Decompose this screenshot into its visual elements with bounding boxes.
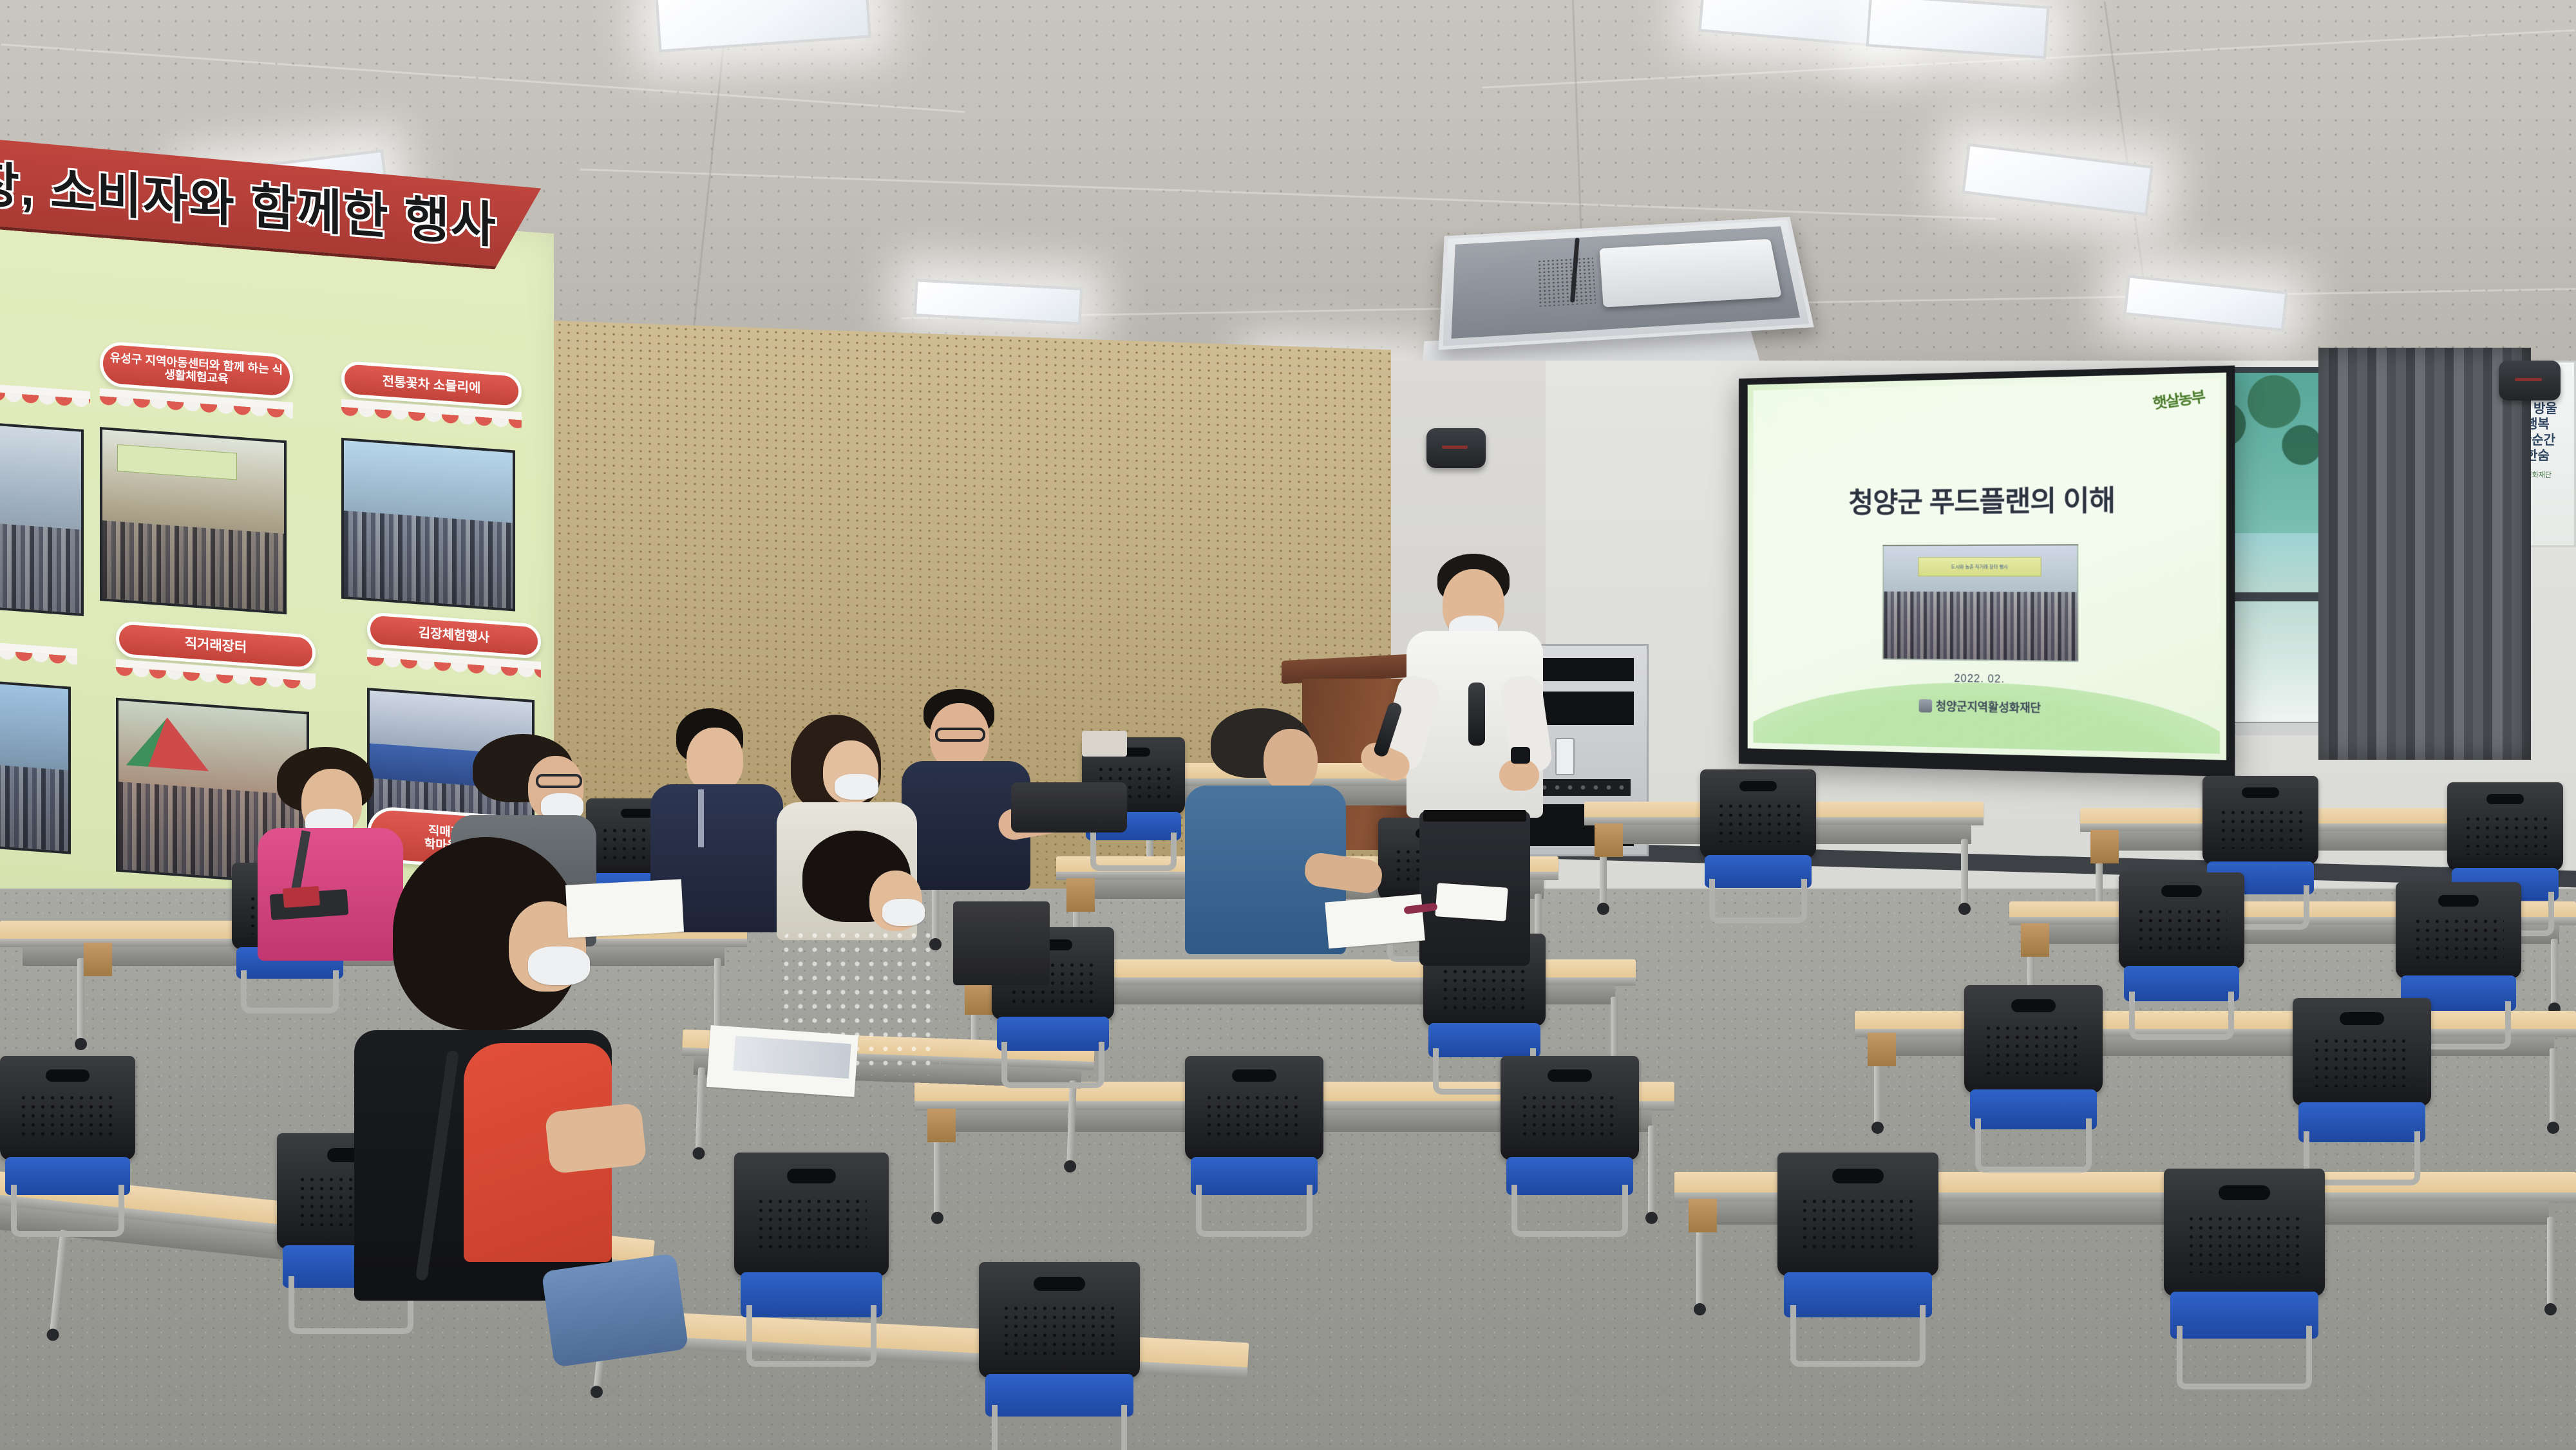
curtain [2318,348,2531,760]
chair[interactable] [1964,985,2103,1165]
chair[interactable] [734,1153,889,1359]
chair[interactable] [1777,1153,1938,1359]
cup[interactable] [1082,731,1127,757]
chair[interactable] [2293,998,2431,1178]
projection-screen: 햇살농부 청양군 푸드플랜의 이해 도시와 농촌 직거래 장터 행사 2022.… [1739,366,2235,777]
chair[interactable] [979,1262,1140,1450]
presenter-belt [1423,810,1526,822]
presenter-wristwatch [1511,747,1530,764]
paper-handout[interactable] [1325,894,1425,949]
microphone[interactable] [1468,683,1485,746]
projector [1439,217,1814,350]
chair[interactable] [1501,1056,1639,1230]
board-panel [0,381,90,616]
lanyard [698,789,704,847]
board-panel-photo [341,438,515,612]
chair[interactable] [0,1056,135,1230]
jeans [542,1253,689,1368]
chair[interactable] [2164,1169,2325,1381]
board-panel-photo [0,420,84,616]
wall-speaker-right [2499,361,2561,400]
slide-logo: 햇살농부 [2152,384,2206,413]
projector-vent [1537,257,1596,306]
board-panel-photo [100,427,287,614]
slide-org-mark [1918,699,1932,712]
chair[interactable] [2119,872,2244,1033]
handbag[interactable] [1011,782,1127,833]
wall-speaker-left [1426,428,1486,468]
presenter-hand-right [1499,760,1539,791]
chair[interactable] [1700,769,1816,918]
slide-org-text: 청양군지역활성화재단 [1936,700,2041,715]
eyeglasses-icon [536,774,582,788]
board-panel-photo [0,678,71,854]
seminar-room-photo: 장, 소비자와 함께한 행사 유성구 지역아동센터와 함께 하는 식생활체험교육… [0,0,2576,1450]
paper-handout[interactable] [565,879,684,937]
projector-body [1600,239,1782,307]
board-panel-food-education: 유성구 지역아동센터와 함께 하는 식생활체험교육 [100,341,293,615]
board-panel-flower-tea: 전통꽃차 소믈리에 [341,361,522,612]
slide-photo-banner-text: 도시와 농촌 직거래 장터 행사 [1918,557,2041,576]
person-attendee-blue-polo [1185,708,1346,953]
slide-photo-group [1884,591,2077,661]
board-panel [0,639,77,855]
slide: 햇살농부 청양군 푸드플랜의 이해 도시와 농촌 직거래 장터 행사 2022.… [1753,379,2220,753]
eyeglasses-icon [935,728,985,742]
slide-photo: 도시와 농촌 직거래 장터 행사 [1882,544,2078,662]
notebook-band[interactable] [283,886,320,908]
chair[interactable] [1185,1056,1323,1230]
screen-surface: 햇살농부 청양군 푸드플랜의 이해 도시와 농촌 직거래 장터 행사 2022.… [1748,373,2226,760]
slide-title: 청양군 푸드플랜의 이해 [1753,476,2220,522]
tissue[interactable] [1435,883,1508,921]
tote-bag[interactable] [953,901,1050,985]
